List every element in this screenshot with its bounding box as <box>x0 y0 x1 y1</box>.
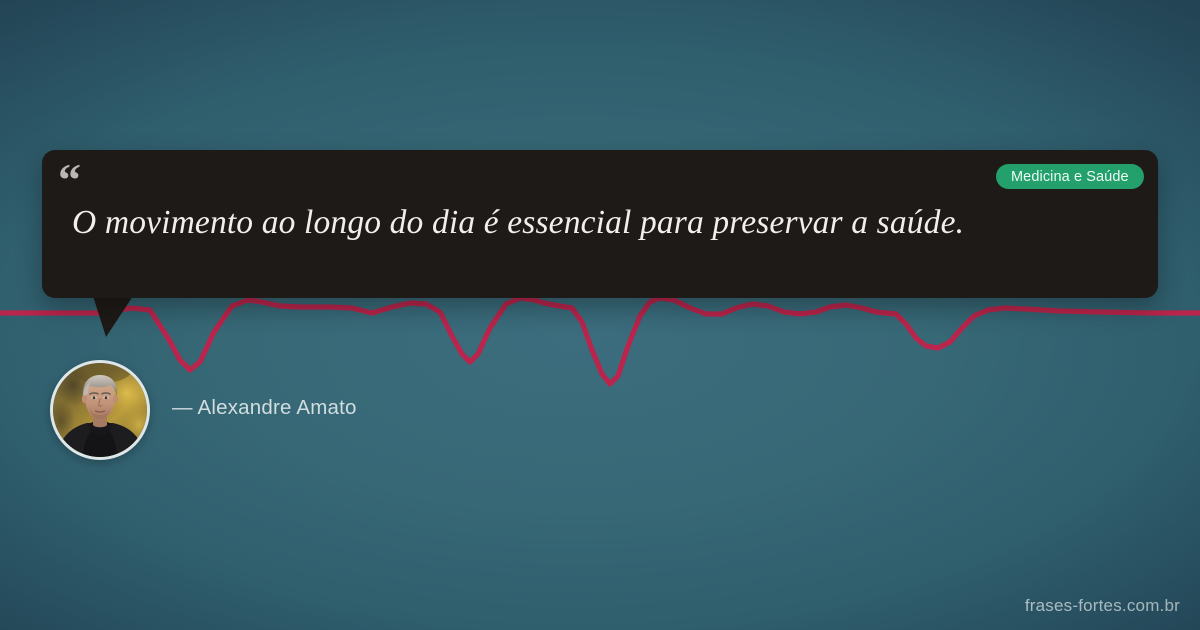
category-badge[interactable]: Medicina e Saúde <box>996 164 1144 189</box>
quotation-mark-icon: “ <box>58 157 80 203</box>
author-avatar[interactable] <box>50 360 150 460</box>
avatar-portrait <box>53 363 147 457</box>
quote-card-image: “ O movimento ao longo do dia é essencia… <box>0 0 1200 630</box>
speech-bubble-tail <box>93 296 133 338</box>
quote-text: O movimento ao longo do dia é essencial … <box>72 202 1132 245</box>
site-watermark: frases-fortes.com.br <box>1025 596 1180 616</box>
author-name: — Alexandre Amato <box>172 396 357 420</box>
